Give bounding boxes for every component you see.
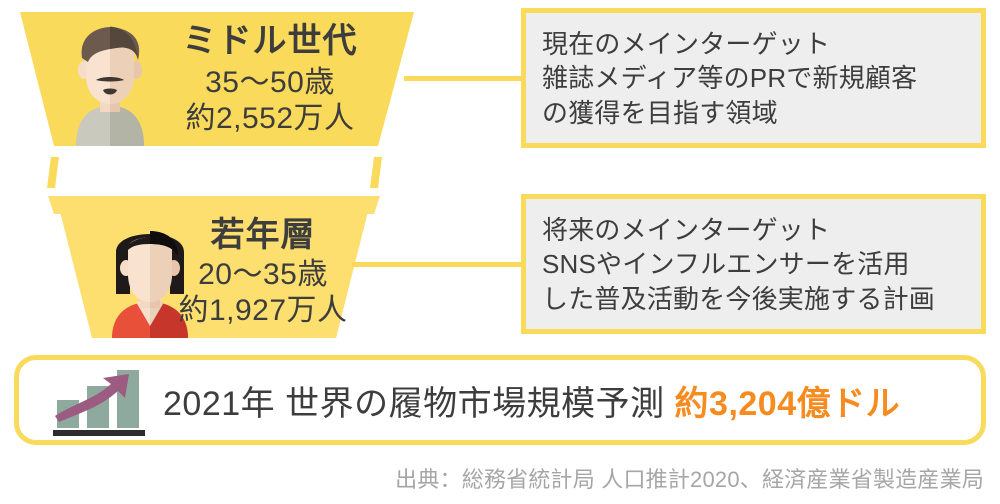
funnel-segment-2-population: 約1,927万人 [160, 294, 366, 328]
funnel-divider-dash-left [47, 157, 59, 188]
callout-2-line-3: した普及活動を今後実施する計画 [542, 282, 965, 316]
connector-line-1 [404, 76, 524, 81]
callout-1-line-1: 現在のメインターゲット [542, 27, 965, 61]
funnel-segment-2-age: 20〜35歳 [168, 258, 358, 292]
callout-current-main-target: 現在のメインターゲット 雑誌メディア等のPRで新規顧客 の獲得を目指す領域 [521, 8, 986, 148]
callout-2-line-1: 将来のメインターゲット [542, 213, 965, 247]
connector-line-2 [352, 262, 524, 267]
funnel-segment-1-age: 35〜50歳 [170, 66, 370, 100]
infographic-canvas: ミドル世代 35〜50歳 約2,552万人 若年層 20〜35歳 約1,927万… [0, 0, 1000, 504]
source-footnote: 出典：総務省統計局 人口推計2020、経済産業省製造産業局 [395, 462, 984, 494]
callout-1-line-2: 雑誌メディア等のPRで新規顧客 [542, 61, 965, 95]
callout-future-main-target: 将来のメインターゲット SNSやインフルエンサーを活用 した普及活動を今後実施す… [521, 194, 986, 334]
funnel-segment-1-title: ミドル世代 [170, 22, 370, 60]
banner-text-highlight: 約3,204億ドル [675, 385, 901, 423]
bar-chart-growth-icon [47, 364, 151, 436]
funnel-segment-2-title: 若年層 [168, 216, 358, 254]
male-avatar-icon [58, 18, 162, 146]
callout-1-line-3: の獲得を目指す領域 [542, 96, 965, 130]
banner-text-main: 2021年 世界の履物市場規模予測 [163, 385, 665, 423]
market-size-banner: 2021年 世界の履物市場規模予測 約3,204億ドル [14, 355, 986, 445]
banner-text: 2021年 世界の履物市場規模予測 約3,204億ドル [163, 376, 900, 425]
funnel-divider-dash-right [370, 157, 382, 188]
funnel-segment-1-population: 約2,552万人 [163, 102, 377, 136]
callout-2-line-2: SNSやインフルエンサーを活用 [542, 247, 965, 281]
